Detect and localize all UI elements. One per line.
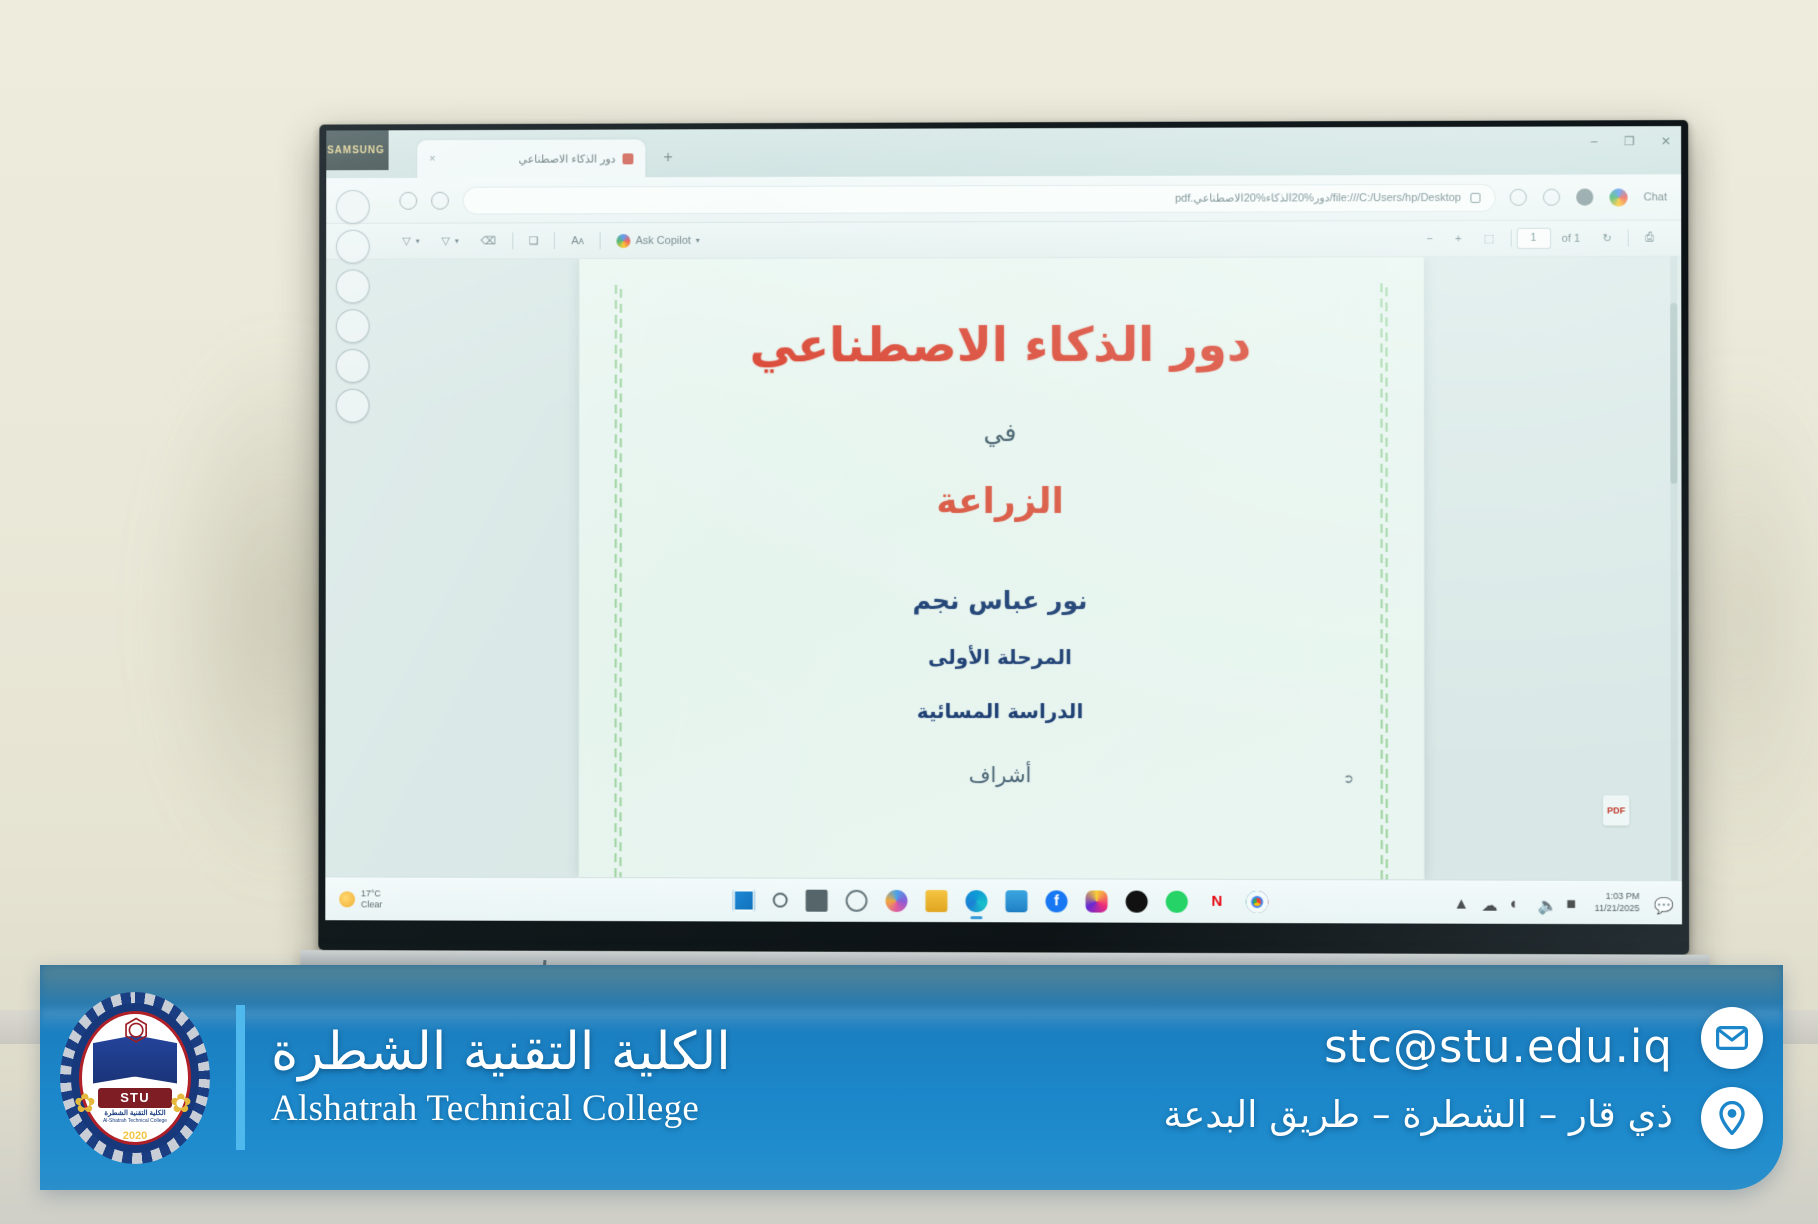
url-text: file:///C:/Users/hp/Desktop/دور%20الذكاء… xyxy=(1175,191,1461,205)
document-stage: المرحلة الأولى xyxy=(639,644,1364,669)
erase-icon: ⌫ xyxy=(481,234,496,247)
start-button[interactable] xyxy=(733,889,755,911)
draw-icon: ▽ xyxy=(402,235,410,248)
tv-bezel: دور الذكاء الاصطناعي × + – ❐ ✕ xyxy=(318,120,1689,955)
college-banner: ⏣ STU الكلية التقنية الشطرة Al-Shatrah T… xyxy=(40,965,1783,1190)
tab-title: دور الذكاء الاصطناعي xyxy=(519,152,616,165)
gemini-icon[interactable] xyxy=(1609,188,1627,206)
network-icon[interactable]: ◐ xyxy=(1510,895,1524,909)
whatsapp-icon[interactable] xyxy=(1166,890,1188,912)
file-icon xyxy=(1470,192,1480,202)
minimize-icon[interactable]: – xyxy=(1591,134,1598,148)
tv-screen[interactable]: دور الذكاء الاصطناعي × + – ❐ ✕ xyxy=(325,126,1682,924)
netflix-icon[interactable]: N xyxy=(1206,890,1228,912)
new-tab-button[interactable]: + xyxy=(655,145,681,171)
cursor-icon: ❏ xyxy=(529,234,539,247)
page-number-input[interactable]: 1 xyxy=(1516,228,1550,249)
document-content: دور الذكاء الاصطناعي في الزراعة نور عباس… xyxy=(638,303,1363,787)
copilot-label: Ask Copilot xyxy=(636,234,691,246)
volume-icon[interactable]: 🔈 xyxy=(1538,895,1552,909)
fit-page-button[interactable]: ⬚ xyxy=(1473,232,1506,245)
browser-window[interactable]: دور الذكاء الاصطناعي × + – ❐ ✕ xyxy=(325,126,1682,924)
crest-year: 2020 xyxy=(110,1130,160,1142)
widgets-icon[interactable] xyxy=(846,889,868,911)
page-border-left xyxy=(614,285,621,877)
page-total-label: of 1 xyxy=(1551,232,1592,244)
crest-arabic-name: الكلية التقنية الشطرة xyxy=(88,1109,182,1117)
file-explorer-icon[interactable] xyxy=(925,890,947,912)
maximize-icon[interactable]: ❐ xyxy=(1624,134,1635,148)
ask-copilot-button[interactable]: Ask Copilot ▾ xyxy=(606,233,711,247)
crest-laurel-right-icon: ✿ xyxy=(170,1088,196,1142)
print-button[interactable]: ⎙ xyxy=(1634,232,1665,245)
college-name-english: Alshatrah Technical College xyxy=(271,1087,731,1130)
college-name-block: الكلية التقنية الشطرة Alshatrah Technica… xyxy=(271,1025,731,1131)
onedrive-icon[interactable]: ☁ xyxy=(1482,895,1496,909)
extension-icon-2[interactable] xyxy=(336,230,370,264)
battery-icon[interactable]: ■ xyxy=(1566,895,1580,909)
omnibar-actions[interactable]: Chat xyxy=(1509,188,1667,206)
pdf-viewport[interactable]: دور الذكاء الاصطناعي في الزراعة نور عباس… xyxy=(325,257,1682,880)
facebook-icon[interactable]: f xyxy=(1046,890,1068,912)
task-view-icon[interactable] xyxy=(806,889,828,911)
document-author: نور عباس نجم xyxy=(639,586,1364,615)
close-icon[interactable]: ✕ xyxy=(1661,134,1671,148)
tv-brand-logo: SAMSUNG xyxy=(325,130,388,170)
store-icon[interactable] xyxy=(1005,890,1027,912)
copilot-icon xyxy=(617,234,631,248)
notifications-icon[interactable]: 💬 xyxy=(1654,896,1668,910)
extension-strip[interactable]: SAMSUNG xyxy=(325,168,381,920)
mouse-cursor-icon: ➲ xyxy=(1343,771,1352,784)
location-pin-icon[interactable] xyxy=(1701,1087,1763,1149)
bookmark-icon[interactable] xyxy=(1509,189,1526,206)
college-name-arabic: الكلية التقنية الشطرة xyxy=(271,1025,731,1080)
read-aloud-button[interactable]: Aᴀ xyxy=(560,235,595,247)
window-controls[interactable]: – ❐ ✕ xyxy=(1591,134,1671,148)
crest-acronym: STU xyxy=(98,1088,172,1108)
extensions-icon[interactable] xyxy=(1543,189,1560,206)
crest-laurel-left-icon: ✿ xyxy=(74,1088,100,1142)
document-preposition: في xyxy=(639,417,1364,447)
page-border-right xyxy=(1380,283,1387,879)
zoom-in-button[interactable]: + xyxy=(1444,233,1473,245)
college-logo: ⏣ STU الكلية التقنية الشطرة Al-Shatrah T… xyxy=(40,992,230,1164)
document-title: دور الذكاء الاصطناعي xyxy=(639,319,1364,372)
television: دور الذكاء الاصطناعي × + – ❐ ✕ xyxy=(318,120,1689,955)
toolbar-separator-2 xyxy=(554,232,555,249)
pdf-page: دور الذكاء الاصطناعي في الزراعة نور عباس… xyxy=(579,257,1424,879)
stu-crest: ⏣ STU الكلية التقنية الشطرة Al-Shatrah T… xyxy=(60,992,210,1164)
extension-icon-6[interactable] xyxy=(336,389,370,423)
email-icon[interactable] xyxy=(1701,1007,1763,1069)
browser-omnibar[interactable]: file:///C:/Users/hp/Desktop/دور%20الذكاء… xyxy=(326,174,1681,224)
chrome-icon[interactable] xyxy=(1246,890,1268,912)
extension-icon-4[interactable] xyxy=(336,309,370,343)
tab-favicon xyxy=(623,153,634,164)
contact-address: ذي قار – الشطرة – طريق البدعة xyxy=(1163,1093,1673,1136)
tab-close-icon[interactable]: × xyxy=(429,153,435,165)
zoom-out-button[interactable]: − xyxy=(1415,233,1444,245)
extension-icon-1[interactable] xyxy=(336,190,370,224)
pdf-save-badge[interactable]: PDF xyxy=(1603,795,1629,825)
toolbar-spacer xyxy=(711,239,1416,241)
draw-tool[interactable]: ▽ ▾ xyxy=(391,235,430,248)
taskbar-clock[interactable]: 1:03 PM 11/21/2025 xyxy=(1595,891,1640,914)
copilot-icon[interactable] xyxy=(886,889,908,911)
highlight-icon: ▽ xyxy=(441,235,449,248)
contact-block: stc@stu.edu.iq ذي قار – الشطرة – طريق ال… xyxy=(1163,1007,1783,1149)
contact-email[interactable]: stc@stu.edu.iq xyxy=(1163,1020,1673,1073)
toolbar-separator-5 xyxy=(1628,230,1629,247)
document-study: الدراسة المسائية xyxy=(638,698,1363,723)
pdf-toolbar[interactable]: ▽ ▾ ▽ ▾ ⌫ ❏ Aᴀ xyxy=(326,220,1681,259)
tiktok-icon[interactable] xyxy=(1126,890,1148,912)
address-bar[interactable]: file:///C:/Users/hp/Desktop/دور%20الذكاء… xyxy=(463,183,1496,214)
extension-icon-3[interactable] xyxy=(336,269,370,303)
toolbar-separator-1 xyxy=(512,232,513,249)
highlight-tool[interactable]: ▽ ▾ xyxy=(431,234,470,247)
rotate-button[interactable]: ↻ xyxy=(1591,232,1623,245)
crest-rod-of-asclepius-icon: ⏣ xyxy=(123,1016,145,1056)
document-subject: الزراعة xyxy=(639,481,1364,522)
browser-tabstrip[interactable]: دور الذكاء الاصطناعي × + – ❐ ✕ xyxy=(326,126,1681,178)
read-aloud-icon: Aᴀ xyxy=(571,235,584,247)
edge-icon[interactable] xyxy=(965,890,987,912)
clock-time: 1:03 PM xyxy=(1595,891,1640,902)
erase-tool[interactable]: ⌫ xyxy=(470,234,507,247)
document-supervision: أشراف xyxy=(638,762,1363,787)
contact-icons xyxy=(1701,1007,1763,1149)
avatar[interactable] xyxy=(1576,189,1593,206)
windows-taskbar[interactable]: 17°C Clear f xyxy=(325,876,1682,924)
toolbar-separator-3 xyxy=(600,232,601,249)
chat-button[interactable]: Chat xyxy=(1644,191,1667,203)
text-select-tool[interactable]: ❏ xyxy=(518,234,550,247)
extension-icon-5[interactable] xyxy=(336,349,370,383)
scrollbar-thumb[interactable] xyxy=(1670,303,1677,484)
banner-divider xyxy=(236,1005,245,1150)
back-icon[interactable] xyxy=(399,191,417,209)
show-hidden-icons[interactable]: ▲ xyxy=(1453,895,1467,909)
system-tray[interactable]: ▲ ☁ ◐ 🔈 ■ 1:03 PM 11/21/2025 💬 xyxy=(1453,891,1667,914)
pdf-badge-label: PDF xyxy=(1607,805,1625,815)
toolbar-separator-4 xyxy=(1510,230,1511,247)
search-icon[interactable] xyxy=(773,893,788,908)
taskbar-apps[interactable]: f N xyxy=(733,889,1268,913)
brand-label: SAMSUNG xyxy=(327,145,384,156)
browser-tab[interactable]: دور الذكاء الاصطناعي × xyxy=(417,139,645,177)
instagram-icon[interactable] xyxy=(1086,890,1108,912)
refresh-icon[interactable] xyxy=(431,191,449,209)
clock-date: 11/21/2025 xyxy=(1595,902,1640,913)
